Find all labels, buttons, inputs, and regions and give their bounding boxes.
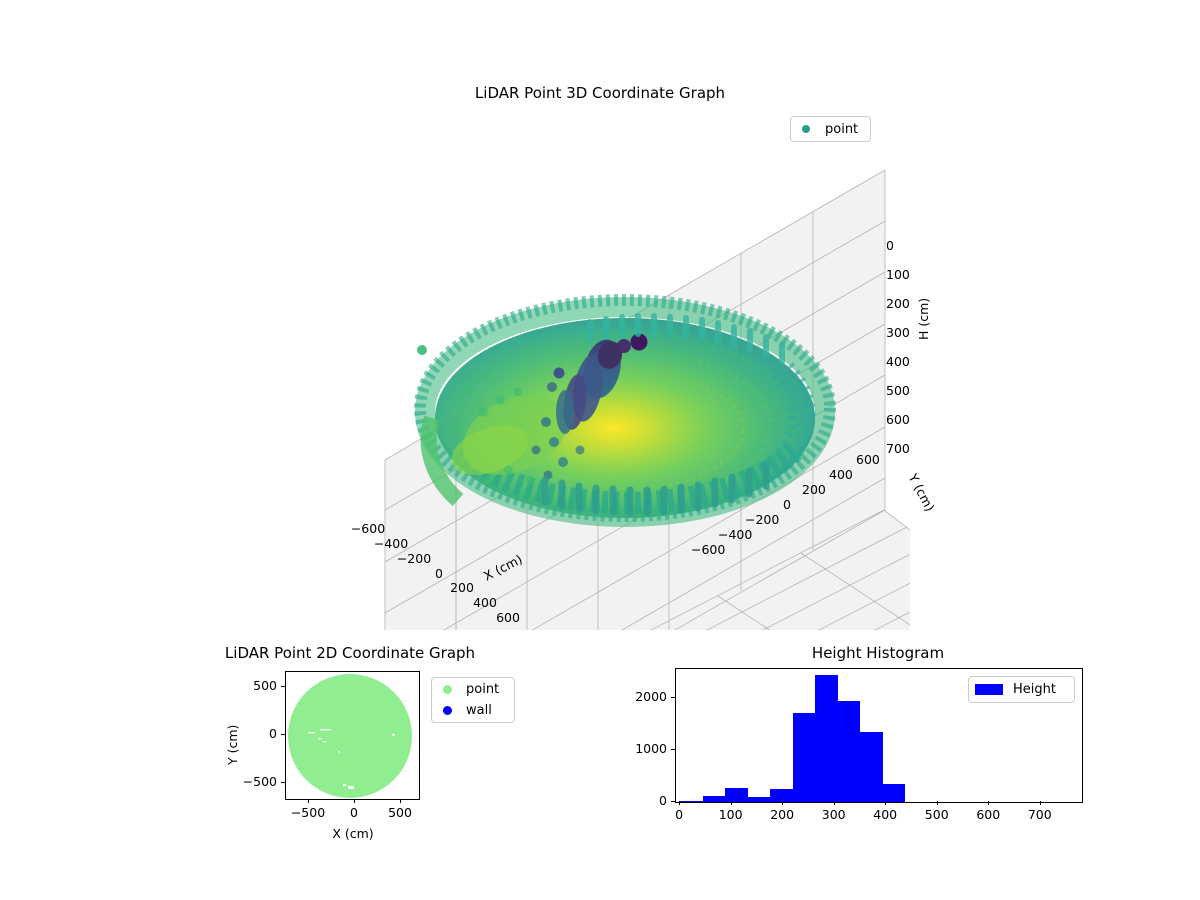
- x-tick-label: 100: [719, 809, 743, 822]
- x-tickmark: [937, 801, 938, 805]
- histogram-bar: [838, 701, 861, 802]
- point-cloud: [417, 300, 830, 518]
- histogram-bar: [815, 675, 838, 802]
- y-tick-label: −500: [243, 776, 277, 789]
- x-tick-label: −500: [291, 807, 325, 820]
- scatter3d-axes[interactable]: −600 −400 −200 0 200 400 600 600 400 200…: [340, 150, 910, 630]
- point-marker-icon: [432, 685, 462, 694]
- y-tick-label: 600: [856, 454, 880, 467]
- histogram-bar: [883, 784, 906, 802]
- x-tick-label: 200: [770, 809, 794, 822]
- x-tick-label: −600: [351, 523, 385, 536]
- legend-label: Height: [1009, 682, 1056, 697]
- x-tick-label: 0: [350, 807, 358, 820]
- scatter2d-canvas: [286, 672, 419, 799]
- legend-label: point: [462, 682, 499, 697]
- y-tick-label: −200: [745, 514, 779, 527]
- y-axis-label: Y (cm): [906, 472, 936, 514]
- x-tickmark: [988, 801, 989, 805]
- legend-item-height[interactable]: Height: [969, 677, 1074, 702]
- histogram-bar: [793, 713, 815, 802]
- height-swatch-icon: [969, 684, 1009, 695]
- x-tickmark: [679, 801, 680, 805]
- z-tick-label: 500: [886, 385, 910, 398]
- x-tickmark: [400, 799, 401, 803]
- legend-item-point[interactable]: point: [791, 117, 870, 141]
- x-tickmark: [1040, 801, 1041, 805]
- scatter2d-axes[interactable]: [285, 671, 420, 800]
- x-tick-label: 600: [976, 809, 1000, 822]
- x-tick-label: 500: [925, 809, 949, 822]
- matplotlib-figure: LiDAR Point 3D Coordinate Graph point: [0, 0, 1200, 900]
- histogram-bar: [703, 796, 726, 802]
- legend-item-point[interactable]: point: [432, 679, 514, 700]
- z-axis-label: H (cm): [918, 298, 931, 340]
- y-tickmark: [281, 782, 285, 783]
- y-tick-label: −600: [691, 544, 725, 557]
- histogram-bar: [725, 788, 747, 802]
- scatter3d-title: LiDAR Point 3D Coordinate Graph: [475, 86, 725, 101]
- x-tick-label: 400: [473, 597, 497, 610]
- y-tick-label: 200: [802, 484, 826, 497]
- x-tick-label: 400: [873, 809, 897, 822]
- z-tick-label: 400: [886, 356, 910, 369]
- point-marker-icon: [791, 125, 821, 133]
- y-tickmark: [281, 686, 285, 687]
- y-tickmark: [671, 749, 675, 750]
- y-tick-label: 500: [253, 680, 277, 693]
- y-tick-label: 0: [659, 795, 667, 808]
- x-tickmark: [354, 799, 355, 803]
- histogram-title: Height Histogram: [812, 646, 944, 661]
- z-tick-label: 300: [886, 327, 910, 340]
- scatter2d-x-axis-label: X (cm): [332, 828, 373, 841]
- x-tick-label: 300: [822, 809, 846, 822]
- y-tick-label: −400: [718, 529, 752, 542]
- y-tick-label: 1000: [635, 743, 667, 756]
- y-tickmark: [281, 734, 285, 735]
- x-tick-label: 500: [388, 807, 412, 820]
- x-tick-label: 600: [496, 612, 520, 625]
- legend-label: wall: [462, 703, 492, 718]
- x-tick-label: 700: [1028, 809, 1052, 822]
- histogram-bar: [748, 797, 771, 802]
- legend-item-wall[interactable]: wall: [432, 700, 514, 721]
- histogram-legend[interactable]: Height: [968, 676, 1075, 703]
- y-tickmark: [671, 801, 675, 802]
- z-tick-label: 100: [886, 269, 910, 282]
- x-tick-label: −400: [374, 538, 408, 551]
- x-tick-label: 200: [450, 582, 474, 595]
- z-tick-label: 200: [886, 298, 910, 311]
- z-tick-label: 600: [886, 414, 910, 427]
- z-tick-label: 700: [886, 443, 910, 456]
- histogram-bar: [680, 801, 703, 802]
- x-tick-label: −200: [397, 553, 431, 566]
- y-tickmark: [671, 697, 675, 698]
- histogram-bar: [860, 732, 882, 802]
- y-tick-label: 0: [783, 499, 791, 512]
- scatter2d-y-axis-label: Y (cm): [227, 725, 240, 765]
- y-tick-label: 2000: [635, 691, 667, 704]
- x-tickmark: [731, 801, 732, 805]
- wall-marker-icon: [432, 706, 462, 715]
- x-tickmark: [834, 801, 835, 805]
- scatter2d-legend[interactable]: point wall: [431, 677, 515, 723]
- z-tick-label: 0: [886, 240, 894, 253]
- x-tick-label: 0: [435, 568, 443, 581]
- y-tick-label: 400: [829, 469, 853, 482]
- x-tick-label: 0: [675, 809, 683, 822]
- scatter3d-legend[interactable]: point: [790, 116, 871, 142]
- y-tick-label: 0: [269, 728, 277, 741]
- x-tickmark: [885, 801, 886, 805]
- legend-label: point: [821, 122, 858, 137]
- scatter2d-title: LiDAR Point 2D Coordinate Graph: [225, 646, 475, 661]
- x-tickmark: [308, 799, 309, 803]
- x-tickmark: [782, 801, 783, 805]
